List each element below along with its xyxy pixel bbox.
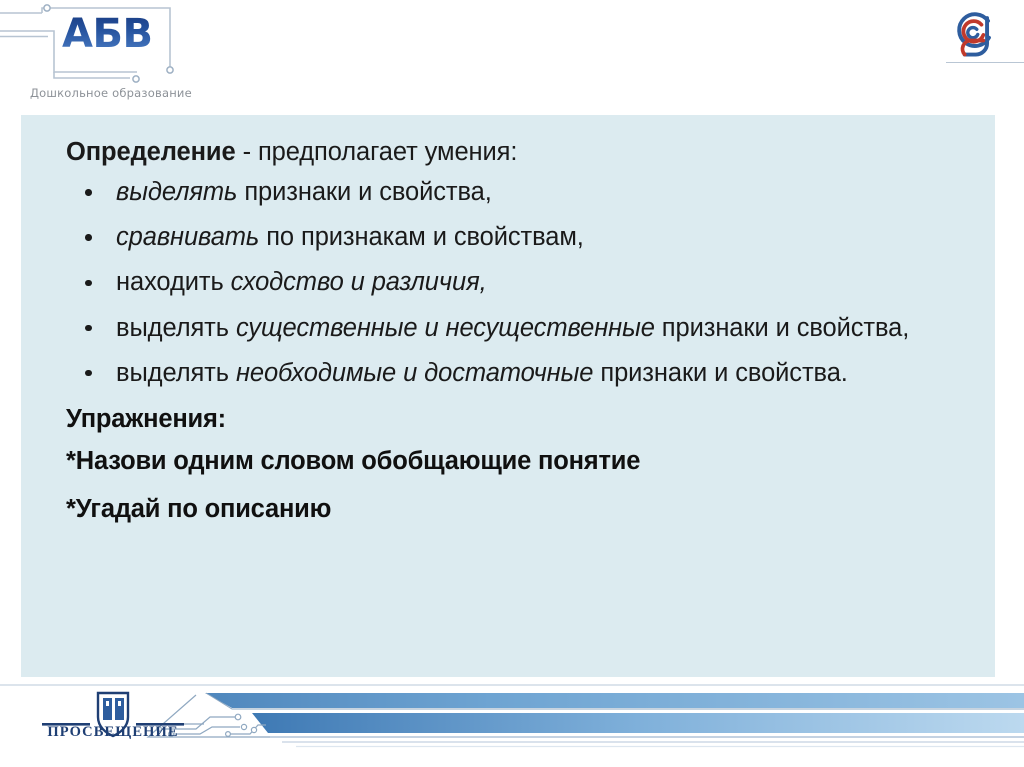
- slide-header: АБВ Дошкольное образование: [0, 0, 1024, 112]
- list-item: выделять признаки и свойства,: [66, 176, 969, 209]
- bullet-post: признаки и свойства.: [593, 359, 847, 387]
- lead-remainder: - предполагает умения:: [236, 138, 518, 166]
- bullet-emphasis: сравнивать: [116, 223, 259, 251]
- bullet-emphasis: выделять: [116, 178, 237, 206]
- bullet-dot-icon: [85, 370, 92, 377]
- bullet-emphasis: необходимые и достаточные: [236, 359, 593, 387]
- publisher-name: ПРОСВЕЩЕНИЕ: [28, 724, 198, 741]
- list-item: находить сходство и различия,: [66, 266, 969, 299]
- exercises-heading: Упражнения:: [66, 404, 969, 435]
- exercise-line-1: *Назови одним словом обобщающие понятие: [66, 446, 969, 477]
- bullet-pre: выделять: [116, 359, 236, 387]
- list-item: выделять существенные и несущественные п…: [66, 312, 969, 345]
- bullet-dot-icon: [85, 280, 92, 287]
- bullet-dot-icon: [85, 234, 92, 241]
- header-divider-line: [946, 62, 1024, 63]
- bullet-post: признаки и свойства,: [655, 314, 909, 342]
- lead-term: Определение: [66, 138, 236, 166]
- slide: АБВ Дошкольное образование Определение -…: [0, 0, 1024, 767]
- content-body: Определение - предполагает умения: выдел…: [66, 137, 969, 542]
- slide-footer: ПРОСВЕЩЕНИЕ: [0, 677, 1024, 767]
- bullet-dot-icon: [85, 325, 92, 332]
- bullet-post: признаки и свойства,: [237, 178, 491, 206]
- exercise-line-2: *Угадай по описанию: [66, 494, 969, 525]
- spiral-circle-logo-icon: [946, 6, 1002, 62]
- bullet-dot-icon: [85, 189, 92, 196]
- skills-bullet-list: выделять признаки и свойства, сравнивать…: [66, 176, 969, 390]
- bullet-pre: находить: [116, 268, 231, 296]
- lead-statement: Определение - предполагает умения:: [66, 137, 969, 167]
- bullet-emphasis: сходство и различия,: [231, 268, 487, 296]
- shield-book-icon: [28, 691, 198, 753]
- list-item: сравнивать по признакам и свойствам,: [66, 221, 969, 254]
- brand-logo: АБВ Дошкольное образование: [62, 14, 302, 54]
- bullet-post: по признакам и свойствам,: [259, 223, 584, 251]
- brand-mark-abv: АБВ: [62, 14, 152, 54]
- brand-subtitle: Дошкольное образование: [30, 86, 192, 100]
- bullet-pre: выделять: [116, 314, 236, 342]
- bullet-emphasis: существенные и несущественные: [236, 314, 655, 342]
- content-panel: Определение - предполагает умения: выдел…: [21, 115, 995, 677]
- list-item: выделять необходимые и достаточные призн…: [66, 357, 969, 390]
